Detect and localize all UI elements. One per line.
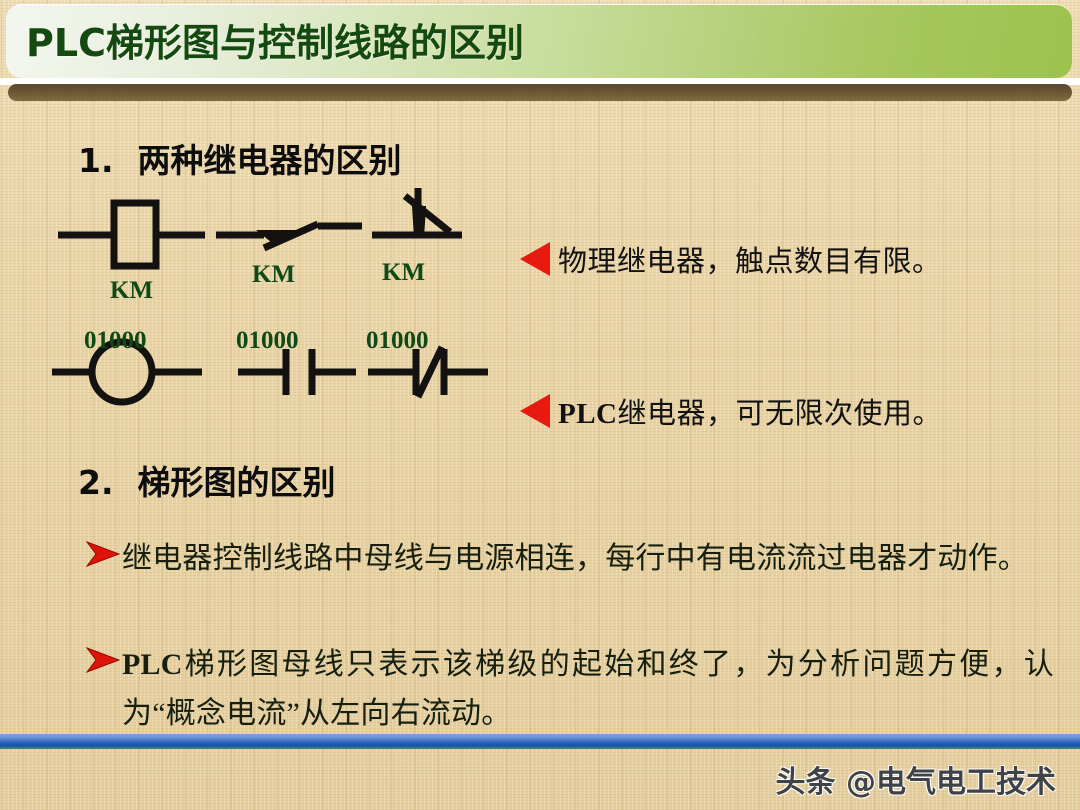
section-1-heading: 1.两种继电器的区别 xyxy=(78,134,402,182)
slide-canvas: PLC梯形图与控制线路的区别 1.两种继电器的区别 xyxy=(0,0,1080,810)
arrow-right-icon xyxy=(86,540,120,568)
arrow-right-icon xyxy=(86,646,120,674)
callout-plc-relay: PLC继电器，可无限次使用。 xyxy=(520,390,942,432)
relay-symbol-label-1: KM xyxy=(110,277,153,305)
header-shadow-band xyxy=(8,84,1072,101)
footer-bar xyxy=(0,734,1080,749)
bullet-2-lead: PLC xyxy=(122,648,183,681)
bullet-1-text: 继电器控制线路中母线与电源相连，每行中有电流流过电器才动作。 xyxy=(122,534,1054,583)
callout-2-text: PLC继电器，可无限次使用。 xyxy=(558,390,942,432)
callout-physical-relay: 物理继电器，触点数目有限。 xyxy=(520,238,942,280)
callout-2-body: 继电器，可无限次使用。 xyxy=(618,398,943,430)
triangle-left-icon xyxy=(520,394,550,428)
bullet-2-body: 梯形图母线只表示该梯级的起始和终了，为分析问题方便，认为“概念电流”从左向右流动… xyxy=(122,648,1054,730)
title-bar: PLC梯形图与控制线路的区别 xyxy=(6,4,1072,78)
section-1-number: 1. xyxy=(78,141,114,180)
plc-symbol-label-2: 01000 xyxy=(236,327,299,355)
bullet-item-relay-ladder: 继电器控制线路中母线与电源相连，每行中有电流流过电器才动作。 xyxy=(86,534,1054,583)
watermark-label: 头条 @电气电工技术 xyxy=(776,757,1056,801)
nc-blade xyxy=(405,196,450,232)
triangle-left-icon xyxy=(520,242,550,276)
section-2-heading: 2.梯形图的区别 xyxy=(78,456,336,504)
callout-1-text: 物理继电器，触点数目有限。 xyxy=(558,238,942,280)
relay-coil-icon xyxy=(114,203,156,266)
plc-symbol-label-1: 01000 xyxy=(84,327,147,355)
plc-symbol-label-3: 01000 xyxy=(366,327,429,355)
callout-2-lead: PLC xyxy=(558,398,618,430)
section-1-title: 两种继电器的区别 xyxy=(138,141,402,180)
section-2-title: 梯形图的区别 xyxy=(138,463,336,502)
page-title: PLC梯形图与控制线路的区别 xyxy=(26,12,524,67)
bullet-2-text: PLC梯形图母线只表示该梯级的起始和终了，为分析问题方便，认为“概念电流”从左向… xyxy=(122,640,1054,738)
relay-symbol-label-3: KM xyxy=(382,259,425,287)
bullet-item-plc-ladder: PLC梯形图母线只表示该梯级的起始和终了，为分析问题方便，认为“概念电流”从左向… xyxy=(86,640,1054,738)
nc-contact-pivot xyxy=(412,206,426,238)
relay-symbol-label-2: KM xyxy=(252,261,295,289)
section-2-number: 2. xyxy=(78,463,114,502)
